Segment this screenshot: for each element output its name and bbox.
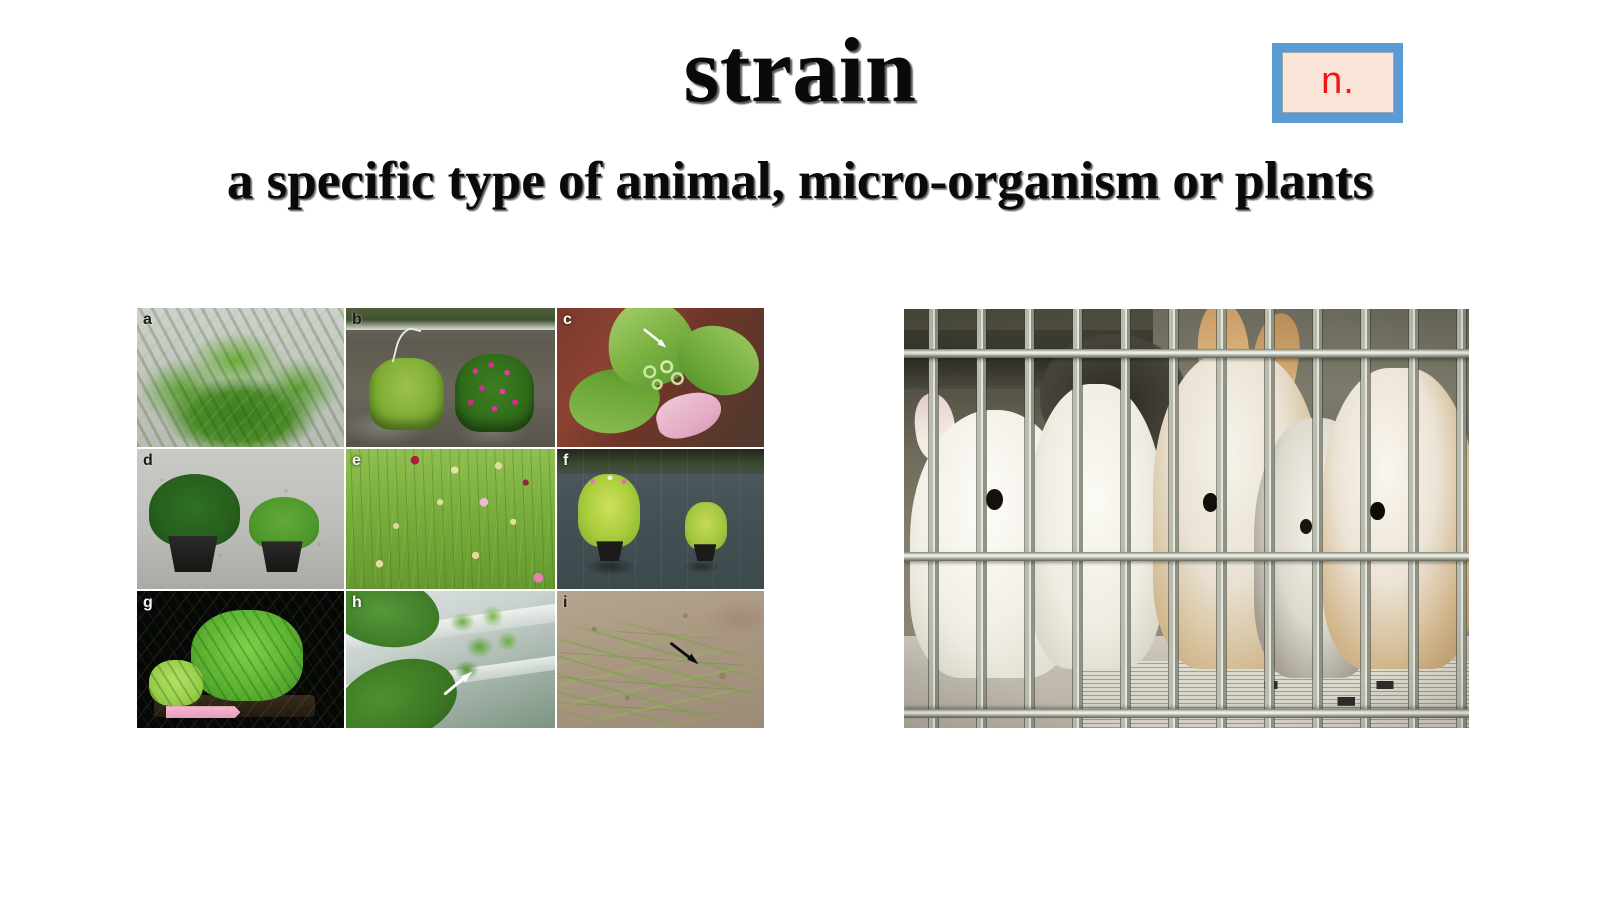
plant-strain-figure: a b c d [137,308,764,728]
plant-panel-b: b [346,308,555,447]
panel-label-c: c [563,310,572,329]
panel-label-i: i [563,593,567,612]
panel-g-label-tag [166,706,241,718]
panel-i-black-arrow-icon [661,638,715,674]
rabbit-photo-vignette [904,309,1469,728]
panel-b-basket-green [369,358,444,430]
panel-a-flowers [137,308,344,447]
panel-h-white-arrow-icon [438,668,484,704]
plant-panel-h: h [346,591,555,728]
panel-f-flowers-large [582,471,636,488]
plant-panel-e: e [346,449,555,589]
definition-text: a specific type of animal, micro-organis… [0,152,1600,210]
plant-panel-c: c [557,308,764,447]
plant-panel-d: d [137,449,344,589]
panel-label-f: f [563,451,568,470]
panel-d-pot-small [261,541,302,572]
part-of-speech-badge: n. [1272,43,1403,123]
panel-f-plant-small [685,502,726,550]
panel-label-d: d [143,451,153,470]
panel-label-e: e [352,451,361,470]
part-of-speech-badge-inner: n. [1282,52,1394,113]
panel-label-a: a [143,310,152,329]
panel-c-white-arrow-icon [632,327,682,355]
panel-f-pot-small [694,544,717,561]
panel-e-cosmos-flowers [346,449,555,589]
panel-b-basket-flowering [455,354,534,432]
panel-f-pot-large [596,541,623,561]
part-of-speech-label: n. [1321,62,1355,100]
header: strain a specific type of animal, micro-… [0,0,1600,250]
panel-label-g: g [143,593,153,612]
panel-c-curled-shoots [636,355,690,397]
panel-label-h: h [352,593,362,612]
plant-panel-a: a [137,308,344,447]
plant-panel-i: i [557,591,764,728]
panel-d-pot-large [168,536,218,572]
rabbits-in-cage-photo [904,309,1469,728]
plant-panel-f: f [557,449,764,589]
panel-label-b: b [352,310,362,329]
plant-panel-g: g [137,591,344,728]
